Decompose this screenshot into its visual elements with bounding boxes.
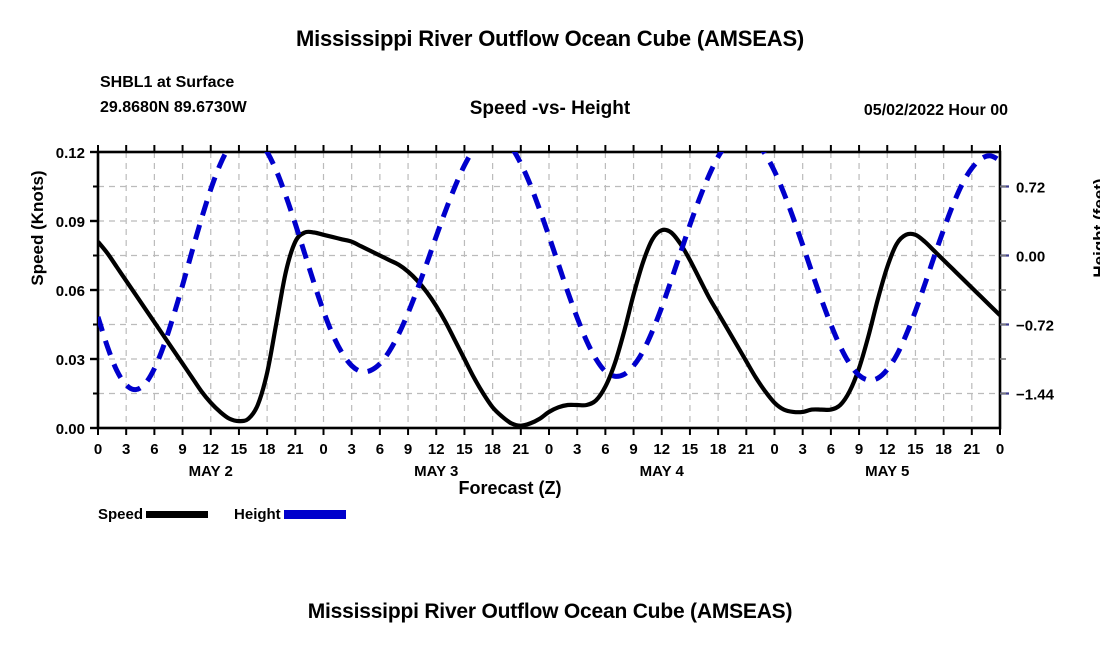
- x-tick-label: 6: [150, 441, 158, 458]
- legend-swatch-height: [284, 510, 346, 519]
- y-tick-label-right: 0.72: [1016, 180, 1045, 197]
- x-tick-label: 21: [512, 441, 529, 458]
- chart-area: 0369121518210369121518210369121518210369…: [0, 0, 1100, 650]
- x-tick-label: 21: [963, 441, 980, 458]
- legend-label-speed: Speed: [98, 506, 143, 523]
- legend-item-speed: Speed: [98, 506, 208, 523]
- x-tick-label: 9: [404, 441, 412, 458]
- x-tick-label: 9: [855, 441, 863, 458]
- x-tick-label: 9: [629, 441, 637, 458]
- y-tick-label-right: 0.00: [1016, 249, 1045, 266]
- x-tick-label: 0: [996, 441, 1004, 458]
- x-axis-label: Forecast (Z): [330, 478, 690, 499]
- y-axis-label-left: Speed (Knots): [28, 128, 48, 328]
- x-tick-label: 12: [653, 441, 670, 458]
- x-tick-label: 3: [573, 441, 581, 458]
- x-axis-day-label: MAY 5: [865, 463, 909, 480]
- y-tick-label-right: −0.72: [1016, 318, 1054, 335]
- chart-page: Mississippi River Outflow Ocean Cube (AM…: [0, 0, 1100, 650]
- y-tick-label-left: 0.09: [56, 214, 85, 231]
- x-tick-label: 21: [738, 441, 755, 458]
- x-tick-label: 6: [827, 441, 835, 458]
- chart-legend: Speed Height: [98, 506, 372, 523]
- x-tick-label: 18: [484, 441, 501, 458]
- plot-svg: 0369121518210369121518210369121518210369…: [0, 0, 1100, 650]
- x-tick-label: 21: [287, 441, 304, 458]
- legend-label-height: Height: [234, 506, 281, 523]
- x-tick-label: 6: [601, 441, 609, 458]
- footer-title: Mississippi River Outflow Ocean Cube (AM…: [0, 600, 1100, 624]
- y-tick-label-left: 0.03: [56, 352, 85, 369]
- y-tick-label-right: −1.44: [1016, 387, 1055, 404]
- legend-swatch-speed: [146, 511, 208, 518]
- x-tick-label: 0: [545, 441, 553, 458]
- y-tick-label-left: 0.12: [56, 145, 85, 162]
- x-tick-label: 9: [178, 441, 186, 458]
- x-tick-label: 3: [799, 441, 807, 458]
- x-tick-label: 0: [94, 441, 102, 458]
- x-tick-label: 15: [907, 441, 924, 458]
- y-tick-label-left: 0.00: [56, 421, 85, 438]
- x-tick-label: 15: [456, 441, 473, 458]
- x-tick-label: 0: [319, 441, 327, 458]
- x-tick-label: 0: [770, 441, 778, 458]
- x-tick-label: 15: [231, 441, 248, 458]
- legend-item-height: Height: [234, 506, 346, 523]
- x-tick-label: 12: [879, 441, 896, 458]
- x-axis-day-label: MAY 2: [189, 463, 233, 480]
- x-tick-label: 18: [710, 441, 727, 458]
- y-tick-label-left: 0.06: [56, 283, 85, 300]
- y-axis-label-right: Height (feet): [1090, 128, 1100, 328]
- x-tick-label: 6: [376, 441, 384, 458]
- x-tick-label: 12: [202, 441, 219, 458]
- x-tick-label: 18: [935, 441, 952, 458]
- x-tick-label: 18: [259, 441, 276, 458]
- x-tick-label: 15: [682, 441, 699, 458]
- x-tick-label: 3: [348, 441, 356, 458]
- x-tick-label: 12: [428, 441, 445, 458]
- x-tick-label: 3: [122, 441, 130, 458]
